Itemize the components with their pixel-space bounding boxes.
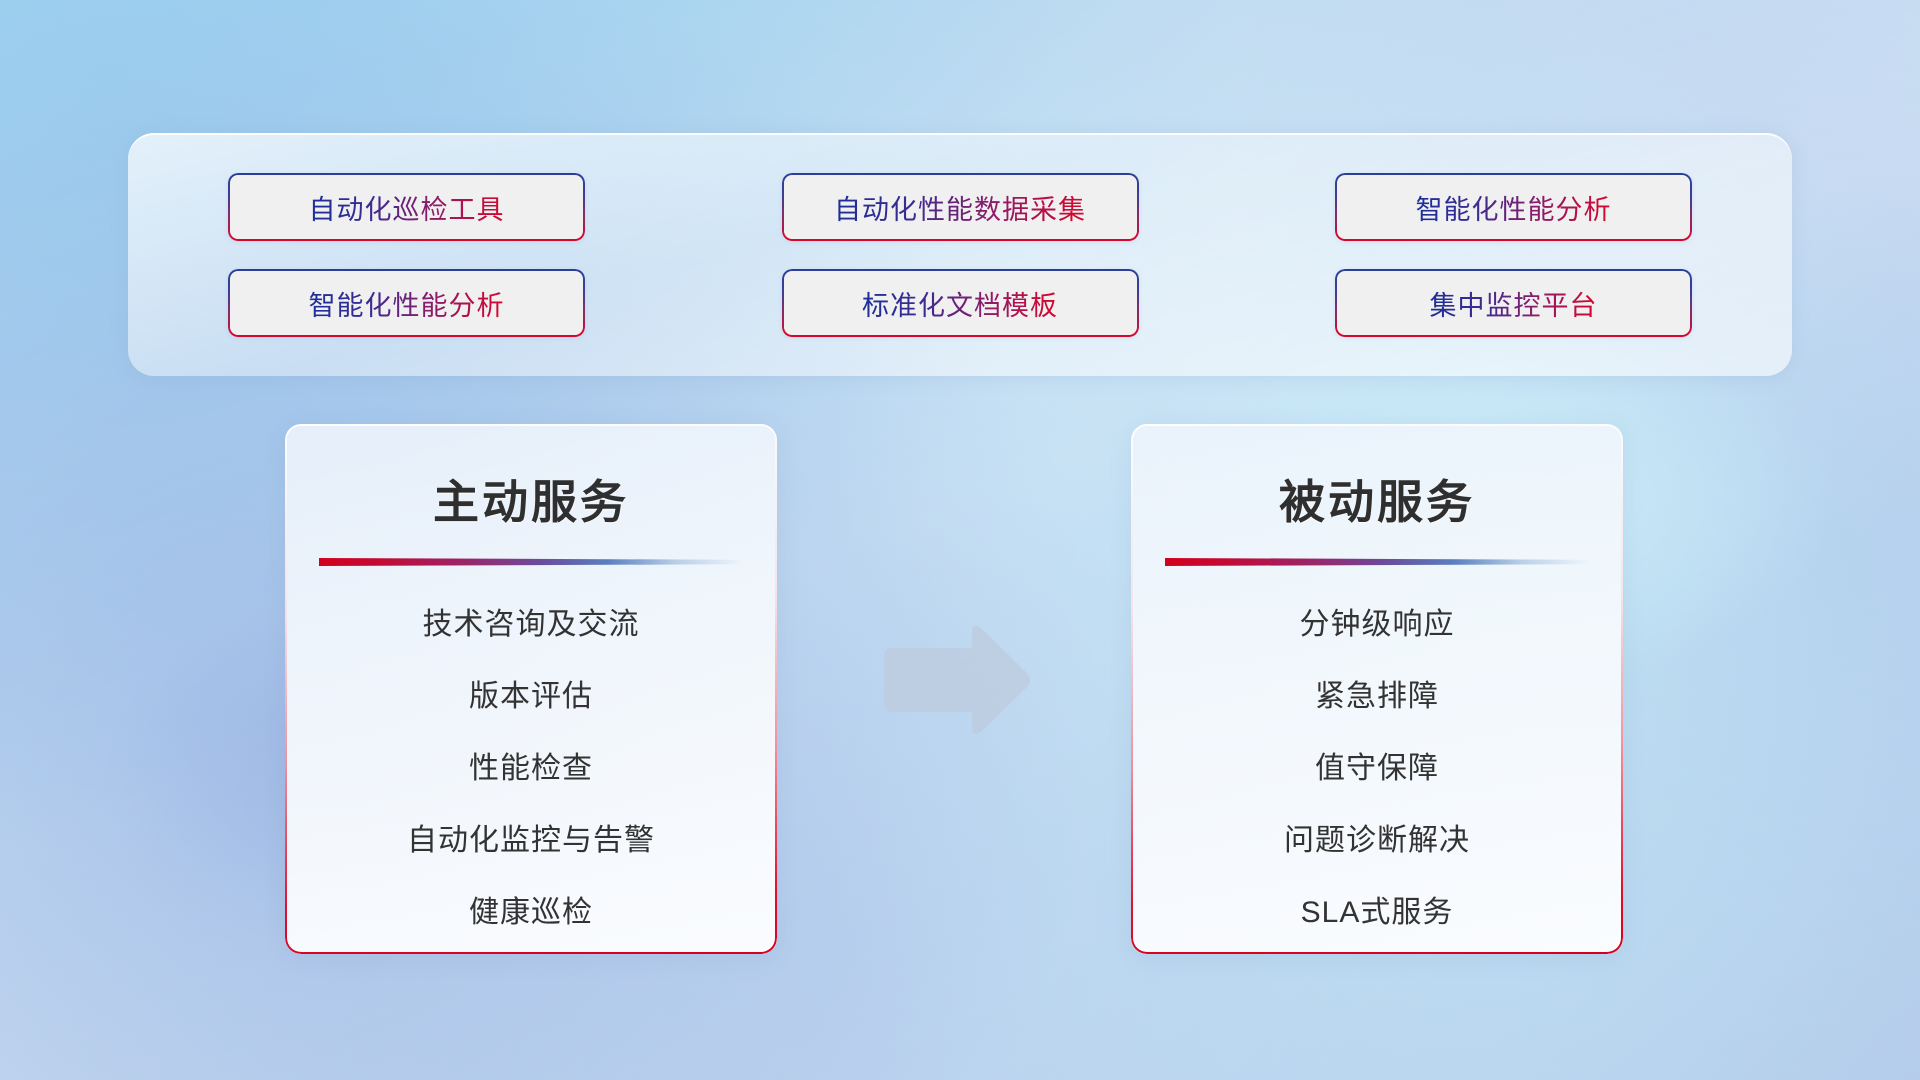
capability-tag-automated-performance-data-collection[interactable]: 自动化性能数据采集 (782, 173, 1139, 241)
passive-service-card-title: 被动服务 (1131, 424, 1623, 532)
active-service-card[interactable]: 主动服务 技术咨询及交流 版本评估 性能检查 自动化监控与告警 健康巡检 (285, 424, 777, 954)
capability-tag-label: 自动化巡检工具 (309, 188, 505, 227)
list-item: 健康巡检 (285, 898, 777, 928)
list-item: 值守保障 (1131, 754, 1623, 826)
capability-tag-centralized-monitoring-platform[interactable]: 集中监控平台 (1335, 269, 1692, 337)
active-service-card-divider (319, 558, 743, 566)
capability-tag-label: 标准化文档模板 (862, 284, 1058, 323)
passive-service-list: 分钟级响应 紧急排障 值守保障 问题诊断解决 SLA式服务 (1131, 566, 1623, 928)
active-service-card-title: 主动服务 (285, 424, 777, 532)
list-item: 分钟级响应 (1131, 610, 1623, 682)
capability-tag-label: 智能化性能分析 (1416, 188, 1612, 227)
capability-tag-standardized-document-template[interactable]: 标准化文档模板 (782, 269, 1139, 337)
capability-tag-intelligent-performance-analysis-2[interactable]: 智能化性能分析 (228, 269, 585, 337)
list-item: 性能检查 (285, 754, 777, 826)
list-item: 自动化监控与告警 (285, 826, 777, 898)
capability-tags-row-2: 智能化性能分析 标准化文档模板 集中监控平台 (228, 269, 1692, 337)
capability-tag-label: 集中监控平台 (1430, 284, 1598, 323)
capability-tags-panel: 自动化巡检工具 自动化性能数据采集 智能化性能分析 智能化性能分析 标准化文档模… (128, 133, 1792, 376)
active-service-list: 技术咨询及交流 版本评估 性能检查 自动化监控与告警 健康巡检 (285, 566, 777, 928)
capability-tags-row-1: 自动化巡检工具 自动化性能数据采集 智能化性能分析 (228, 173, 1692, 241)
divider-bar (1165, 558, 1589, 566)
list-item: 技术咨询及交流 (285, 610, 777, 682)
divider-bar (319, 558, 743, 566)
capability-tag-automation-inspection-tool[interactable]: 自动化巡检工具 (228, 173, 585, 241)
capability-tag-intelligent-performance-analysis-1[interactable]: 智能化性能分析 (1335, 173, 1692, 241)
list-item: 问题诊断解决 (1131, 826, 1623, 898)
arrow-right-icon (876, 620, 1036, 740)
list-item: 紧急排障 (1131, 682, 1623, 754)
passive-service-card-divider (1165, 558, 1589, 566)
capability-tag-label: 自动化性能数据采集 (834, 188, 1086, 227)
passive-service-card[interactable]: 被动服务 分钟级响应 紧急排障 值守保障 问题诊断解决 SLA式服务 (1131, 424, 1623, 954)
list-item: SLA式服务 (1131, 898, 1623, 928)
capability-tag-label: 智能化性能分析 (309, 284, 505, 323)
list-item: 版本评估 (285, 682, 777, 754)
